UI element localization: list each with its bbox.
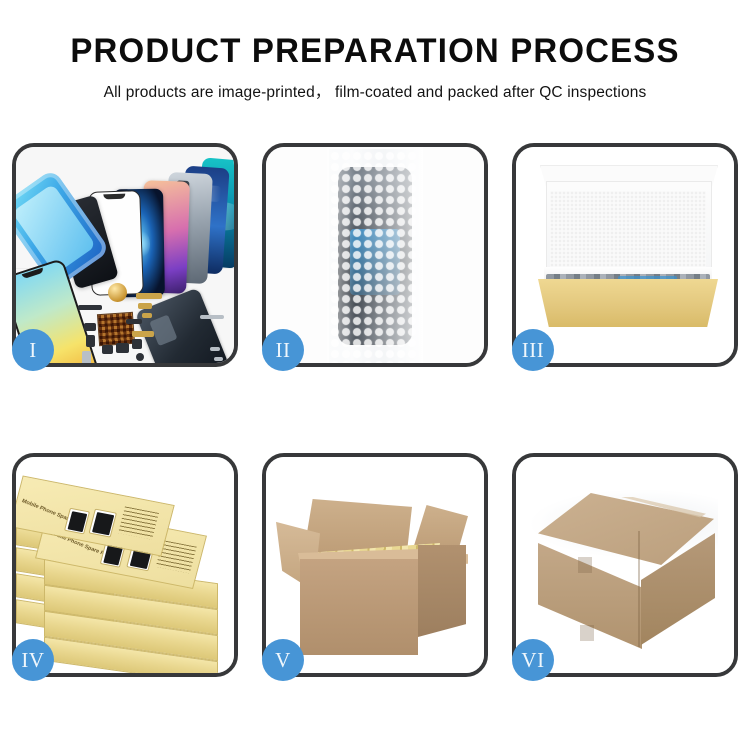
- page-title: PRODUCT PREPARATION PROCESS: [11, 0, 739, 71]
- step-badge-2: II: [262, 329, 304, 371]
- connector-pin-array: [97, 312, 135, 346]
- step-badge-3: III: [512, 329, 554, 371]
- small-part-strip-2: [126, 319, 142, 324]
- step-4-image: Mobile Phone Spare Parts Mobile Phone Sp…: [16, 457, 234, 673]
- retail-box-stack: Mobile Phone Spare Parts Mobile Phone Sp…: [16, 471, 234, 671]
- retail-box-spec-lines-upper: [118, 506, 159, 539]
- sealed-carton-hand-hole-upper: [578, 557, 592, 573]
- small-part-round-1: [136, 353, 144, 361]
- step-badge-1: I: [12, 329, 54, 371]
- process-step-grid: I II III: [12, 143, 738, 677]
- small-part-block-5: [132, 339, 142, 349]
- small-part-silver-1: [82, 351, 91, 363]
- step-5-image: [266, 457, 484, 673]
- retail-box-screen-thumb-c: [64, 508, 90, 535]
- carton-side-face: [418, 545, 466, 637]
- vibration-motor-part: [108, 283, 127, 302]
- step-panel-6: VI: [512, 453, 738, 677]
- screw-1: [210, 347, 220, 351]
- step-panel-1: I: [12, 143, 238, 367]
- flex-cable-2: [132, 331, 154, 337]
- small-part-gold-1: [138, 303, 152, 309]
- screw-2: [214, 357, 223, 361]
- mailer-box-base: [538, 279, 718, 327]
- page-subtitle: All products are image-printed， film-coa…: [0, 71, 750, 102]
- step-badge-4: IV: [12, 639, 54, 681]
- small-part-gold-2: [142, 313, 152, 318]
- sealed-carton-vertical-seam: [638, 531, 640, 647]
- retail-box-screen-thumb-d: [89, 509, 117, 538]
- step-panel-3: III: [512, 143, 738, 367]
- small-part-block-3: [102, 345, 113, 354]
- step-badge-5: V: [262, 639, 304, 681]
- flex-cable-1: [136, 293, 162, 299]
- tweezers: [200, 315, 224, 319]
- step-3-image: [516, 147, 734, 363]
- step-badge-6: VI: [512, 639, 554, 681]
- small-part-strip-1: [78, 305, 102, 310]
- step-panel-2: II: [262, 143, 488, 367]
- sealed-carton-hand-hole-lower: [580, 625, 594, 641]
- step-6-image: [516, 457, 734, 673]
- small-part-block-4: [116, 343, 129, 353]
- step-1-image: [16, 147, 234, 363]
- small-part-block-2: [86, 335, 95, 347]
- step-panel-5: V: [262, 453, 488, 677]
- small-part-block-1: [84, 323, 96, 331]
- step-2-image: [266, 147, 484, 363]
- plastic-sheen-overlay: [327, 147, 423, 363]
- header: PRODUCT PREPARATION PROCESS All products…: [0, 0, 750, 102]
- step-panel-4: Mobile Phone Spare Parts Mobile Phone Sp…: [12, 453, 238, 677]
- carton-front-face: [300, 559, 418, 655]
